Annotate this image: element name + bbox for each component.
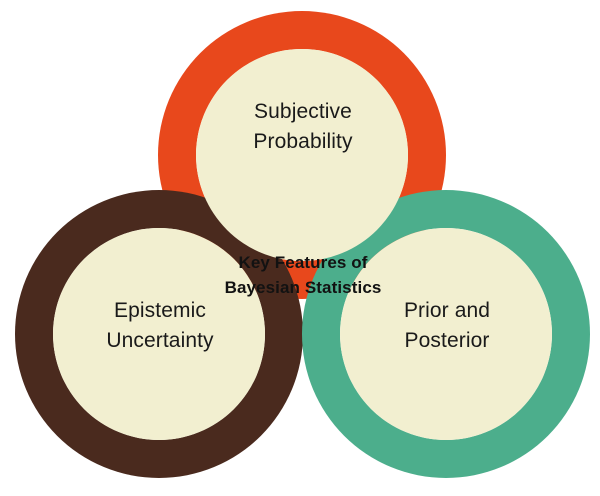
- disc-epistemic-uncertainty[interactable]: [53, 228, 265, 440]
- disc-subjective-probability[interactable]: [196, 49, 408, 261]
- disc-prior-and-posterior[interactable]: [340, 228, 552, 440]
- venn-diagram: Subjective Probability Epistemic Uncerta…: [0, 0, 600, 496]
- venn-rings-graphic: [0, 0, 600, 496]
